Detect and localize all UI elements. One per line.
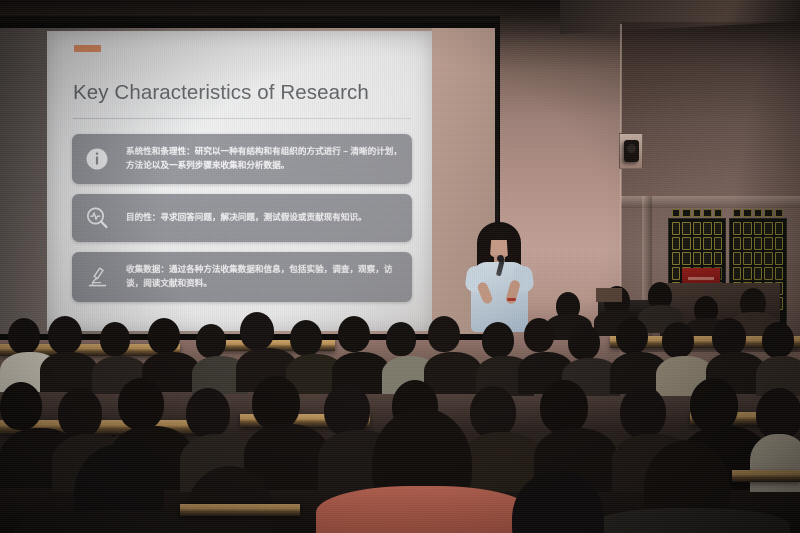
key-cell <box>775 252 783 265</box>
key-cell <box>733 237 741 250</box>
audience-head <box>482 322 514 358</box>
key-cell <box>693 252 701 265</box>
presenter-bracelet <box>507 298 516 301</box>
key-cell <box>754 252 762 265</box>
audience-head <box>196 324 226 358</box>
bullet-text-1: 系统性和条理性：研究以一种有结构和有组织的方式进行 – 清晰的计划，方法论以及一… <box>126 145 402 173</box>
key-cell <box>754 237 762 250</box>
title-divider <box>73 118 411 119</box>
key-cell <box>682 252 690 265</box>
audience-head <box>118 378 164 430</box>
bullet-box-2: 目的性：寻求回答问题，解决问题，测试假设或贡献现有知识。 <box>72 194 412 242</box>
key-cell <box>775 222 783 235</box>
key-cell <box>775 267 783 280</box>
microphone-head <box>497 255 504 262</box>
key-panel-header <box>672 209 722 217</box>
key-cell <box>693 222 701 235</box>
bullet-text-2: 目的性：寻求回答问题，解决问题，测试假设或贡献现有知识。 <box>126 211 402 225</box>
key-cell <box>703 222 711 235</box>
audience-head <box>186 388 230 438</box>
accent-bar <box>74 45 101 52</box>
audience-head <box>240 312 274 350</box>
key-cell <box>714 222 722 235</box>
key-cell <box>764 222 772 235</box>
info-icon <box>84 146 110 172</box>
audience-head <box>290 320 322 356</box>
key-cell <box>775 237 783 250</box>
audience-head <box>58 388 102 438</box>
audience-head <box>540 380 588 434</box>
key-cell <box>754 267 762 280</box>
key-cell <box>682 237 690 250</box>
audience-head <box>470 386 516 438</box>
audience-head <box>48 316 82 354</box>
presentation-slide: Key Characteristics of Research 系统性和条理性：… <box>47 31 432 331</box>
key-cell <box>682 222 690 235</box>
key-cell <box>743 237 751 250</box>
audience-head <box>524 318 554 352</box>
magnifier-pulse-icon <box>84 205 110 231</box>
audience-head <box>616 318 648 354</box>
audience-head <box>712 318 746 356</box>
audience-head <box>690 378 738 432</box>
audience-head <box>338 316 370 352</box>
key-cell <box>764 267 772 280</box>
lecture-hall-photo: Key Characteristics of Research 系统性和条理性：… <box>0 0 800 533</box>
presenter <box>463 222 535 332</box>
key-cell <box>714 252 722 265</box>
audience-shoulders-foreground <box>590 508 790 533</box>
key-cell <box>743 267 751 280</box>
key-cell <box>764 237 772 250</box>
audience-head <box>428 316 460 352</box>
audience-head <box>252 376 300 430</box>
audience-head <box>568 324 600 360</box>
key-cell <box>672 267 680 280</box>
key-panel-header <box>733 209 783 217</box>
audience-head <box>756 388 800 440</box>
bullet-text-3: 收集数据：通过各种方法收集数据和信息，包括实验，调查，观察，访谈，阅读文献和资料… <box>126 263 402 291</box>
audience-head <box>386 322 416 356</box>
audience-head <box>148 318 180 354</box>
laptop <box>596 288 622 302</box>
audience-head <box>8 318 40 354</box>
key-cell <box>714 237 722 250</box>
audience-head <box>0 382 42 430</box>
audience-shoulders <box>750 434 800 492</box>
key-cell <box>672 252 680 265</box>
key-cell <box>764 252 772 265</box>
key-cell <box>703 252 711 265</box>
key-cell <box>743 222 751 235</box>
audience-shoulders-foreground <box>316 486 532 533</box>
audience-head <box>620 386 666 438</box>
audience-head <box>662 322 694 358</box>
key-cell <box>672 222 680 235</box>
key-cell <box>733 252 741 265</box>
audience-head <box>762 322 794 358</box>
key-cell <box>743 252 751 265</box>
key-cell <box>733 222 741 235</box>
desk-row <box>180 504 300 516</box>
ceiling-speaker-icon <box>624 140 639 162</box>
key-cell <box>733 267 741 280</box>
key-cell <box>754 222 762 235</box>
key-cell <box>672 237 680 250</box>
key-cell <box>693 237 701 250</box>
bullet-box-3: 收集数据：通过各种方法收集数据和信息，包括实验，调查，观察，访谈，阅读文献和资料… <box>72 252 412 302</box>
slide-title: Key Characteristics of Research <box>73 81 413 105</box>
audience-shoulders <box>40 352 98 392</box>
audience-head <box>324 384 370 436</box>
audience-head <box>100 322 130 356</box>
audience-shoulders <box>424 352 482 394</box>
desk-row <box>732 470 800 482</box>
key-cell <box>703 237 711 250</box>
microscope-icon <box>84 264 110 290</box>
bullet-box-1: 系统性和条理性：研究以一种有结构和有组织的方式进行 – 清晰的计划，方法论以及一… <box>72 134 412 184</box>
